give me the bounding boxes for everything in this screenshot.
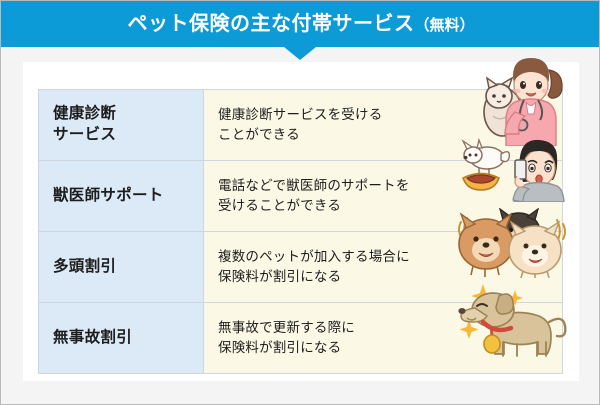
service-description-line1: 無事故で更新する際に — [218, 318, 562, 338]
service-description-line1: 健康診断サービスを受ける — [218, 105, 562, 125]
page-title: ペット保険の主な付帯サービス（無料） — [127, 14, 474, 34]
page-title-suffix: （無料） — [414, 17, 474, 34]
service-name-line2: サービス — [53, 126, 116, 143]
content-card: 健康診断 サービス 健康診断サービスを受ける ことができる 獣医師サポート 電話… — [23, 62, 579, 381]
service-description-cell: 健康診断サービスを受ける ことができる — [204, 90, 563, 161]
service-description-line2: ことができる — [218, 125, 562, 145]
service-name-line1: 無事故割引 — [53, 329, 132, 346]
service-description-line1: 電話などで獣医師のサポートを — [218, 176, 562, 196]
header-banner: ペット保険の主な付帯サービス（無料） — [1, 1, 600, 47]
service-name-cell: 多頭割引 — [39, 232, 204, 303]
service-name-cell: 獣医師サポート — [39, 161, 204, 232]
service-description-line2: 保険料が割引になる — [218, 338, 562, 358]
services-table: 健康診断 サービス 健康診断サービスを受ける ことができる 獣医師サポート 電話… — [38, 89, 563, 374]
service-description-line2: 受けることができる — [218, 196, 562, 216]
service-name-line1: 多頭割引 — [53, 258, 116, 275]
service-name-cell: 健康診断 サービス — [39, 90, 204, 161]
table-row: 健康診断 サービス 健康診断サービスを受ける ことができる — [39, 90, 563, 161]
table-row: 獣医師サポート 電話などで獣医師のサポートを 受けることができる — [39, 161, 563, 232]
table-row: 無事故割引 無事故で更新する際に 保険料が割引になる — [39, 303, 563, 374]
service-description-cell: 無事故で更新する際に 保険料が割引になる — [204, 303, 563, 374]
triangle-down-icon — [284, 47, 316, 60]
service-description-cell: 電話などで獣医師のサポートを 受けることができる — [204, 161, 563, 232]
page-title-main: ペット保険の主な付帯サービス — [127, 13, 414, 35]
service-name-line1: 獣医師サポート — [53, 187, 164, 204]
infographic-frame: ペット保険の主な付帯サービス（無料） 健康診断 サービス 健康診断サービスを受け… — [0, 0, 600, 405]
table-row: 多頭割引 複数のペットが加入する場合に 保険料が割引になる — [39, 232, 563, 303]
service-description-line2: 保険料が割引になる — [218, 267, 562, 287]
service-description-line1: 複数のペットが加入する場合に — [218, 247, 562, 267]
service-description-cell: 複数のペットが加入する場合に 保険料が割引になる — [204, 232, 563, 303]
service-name-cell: 無事故割引 — [39, 303, 204, 374]
service-name-line1: 健康診断 — [53, 105, 116, 122]
